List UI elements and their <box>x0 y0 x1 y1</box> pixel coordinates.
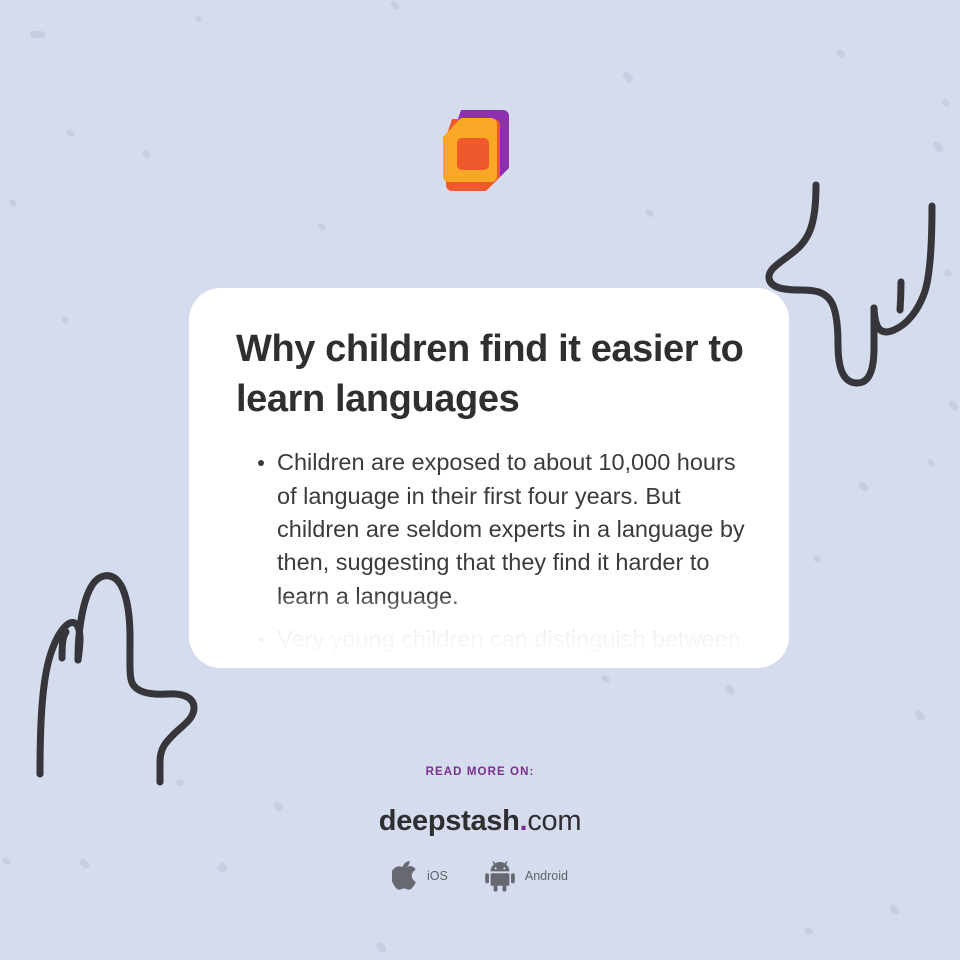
page-title: Why children find it easier to learn lan… <box>236 324 753 424</box>
background-speck <box>857 480 870 493</box>
background-speck <box>947 399 959 412</box>
background-speck <box>60 315 70 325</box>
background-speck <box>8 198 18 208</box>
background-speck <box>888 903 900 916</box>
read-more-label: READ MORE ON: <box>0 766 960 778</box>
idea-bullet-list: Children are exposed to about 10,000 hou… <box>236 446 753 656</box>
background-speck <box>375 941 388 954</box>
android-icon <box>484 860 516 892</box>
deepstash-logo <box>425 103 520 198</box>
background-speck <box>30 31 45 39</box>
background-speck <box>621 71 634 85</box>
background-speck <box>941 98 950 108</box>
card-content: Why children find it easier to learn lan… <box>189 288 789 656</box>
android-label: Android <box>525 869 568 883</box>
list-item: Very young children can distinguish betw… <box>236 623 753 656</box>
background-speck <box>141 149 152 159</box>
background-speck <box>723 683 736 696</box>
background-speck <box>926 458 936 468</box>
app-store-row: iOS <box>0 860 960 892</box>
background-speck <box>812 554 822 564</box>
wordmark-name: deepstash <box>379 805 520 837</box>
background-speck <box>194 15 203 23</box>
apple-icon <box>392 861 418 892</box>
background-speck <box>644 208 655 218</box>
background-speck <box>943 268 953 278</box>
background-speck <box>317 222 327 232</box>
background-speck <box>803 926 814 936</box>
ios-label: iOS <box>427 869 448 883</box>
background-speck <box>931 140 944 154</box>
background-speck <box>913 709 926 723</box>
wordmark-tld: com <box>527 805 581 837</box>
footer: READ MORE ON: deepstash.com iOS <box>0 766 960 892</box>
background-speck <box>65 128 76 138</box>
background-speck <box>600 674 611 684</box>
brand-wordmark[interactable]: deepstash.com <box>0 805 960 838</box>
background-speck <box>835 48 846 59</box>
ios-store-badge[interactable]: iOS <box>392 861 448 892</box>
android-store-badge[interactable]: Android <box>484 860 568 892</box>
list-item: Children are exposed to about 10,000 hou… <box>236 446 753 613</box>
background-speck <box>389 0 400 11</box>
hand-doodle-pointing-up <box>22 562 217 787</box>
idea-card[interactable]: Why children find it easier to learn lan… <box>189 288 789 668</box>
